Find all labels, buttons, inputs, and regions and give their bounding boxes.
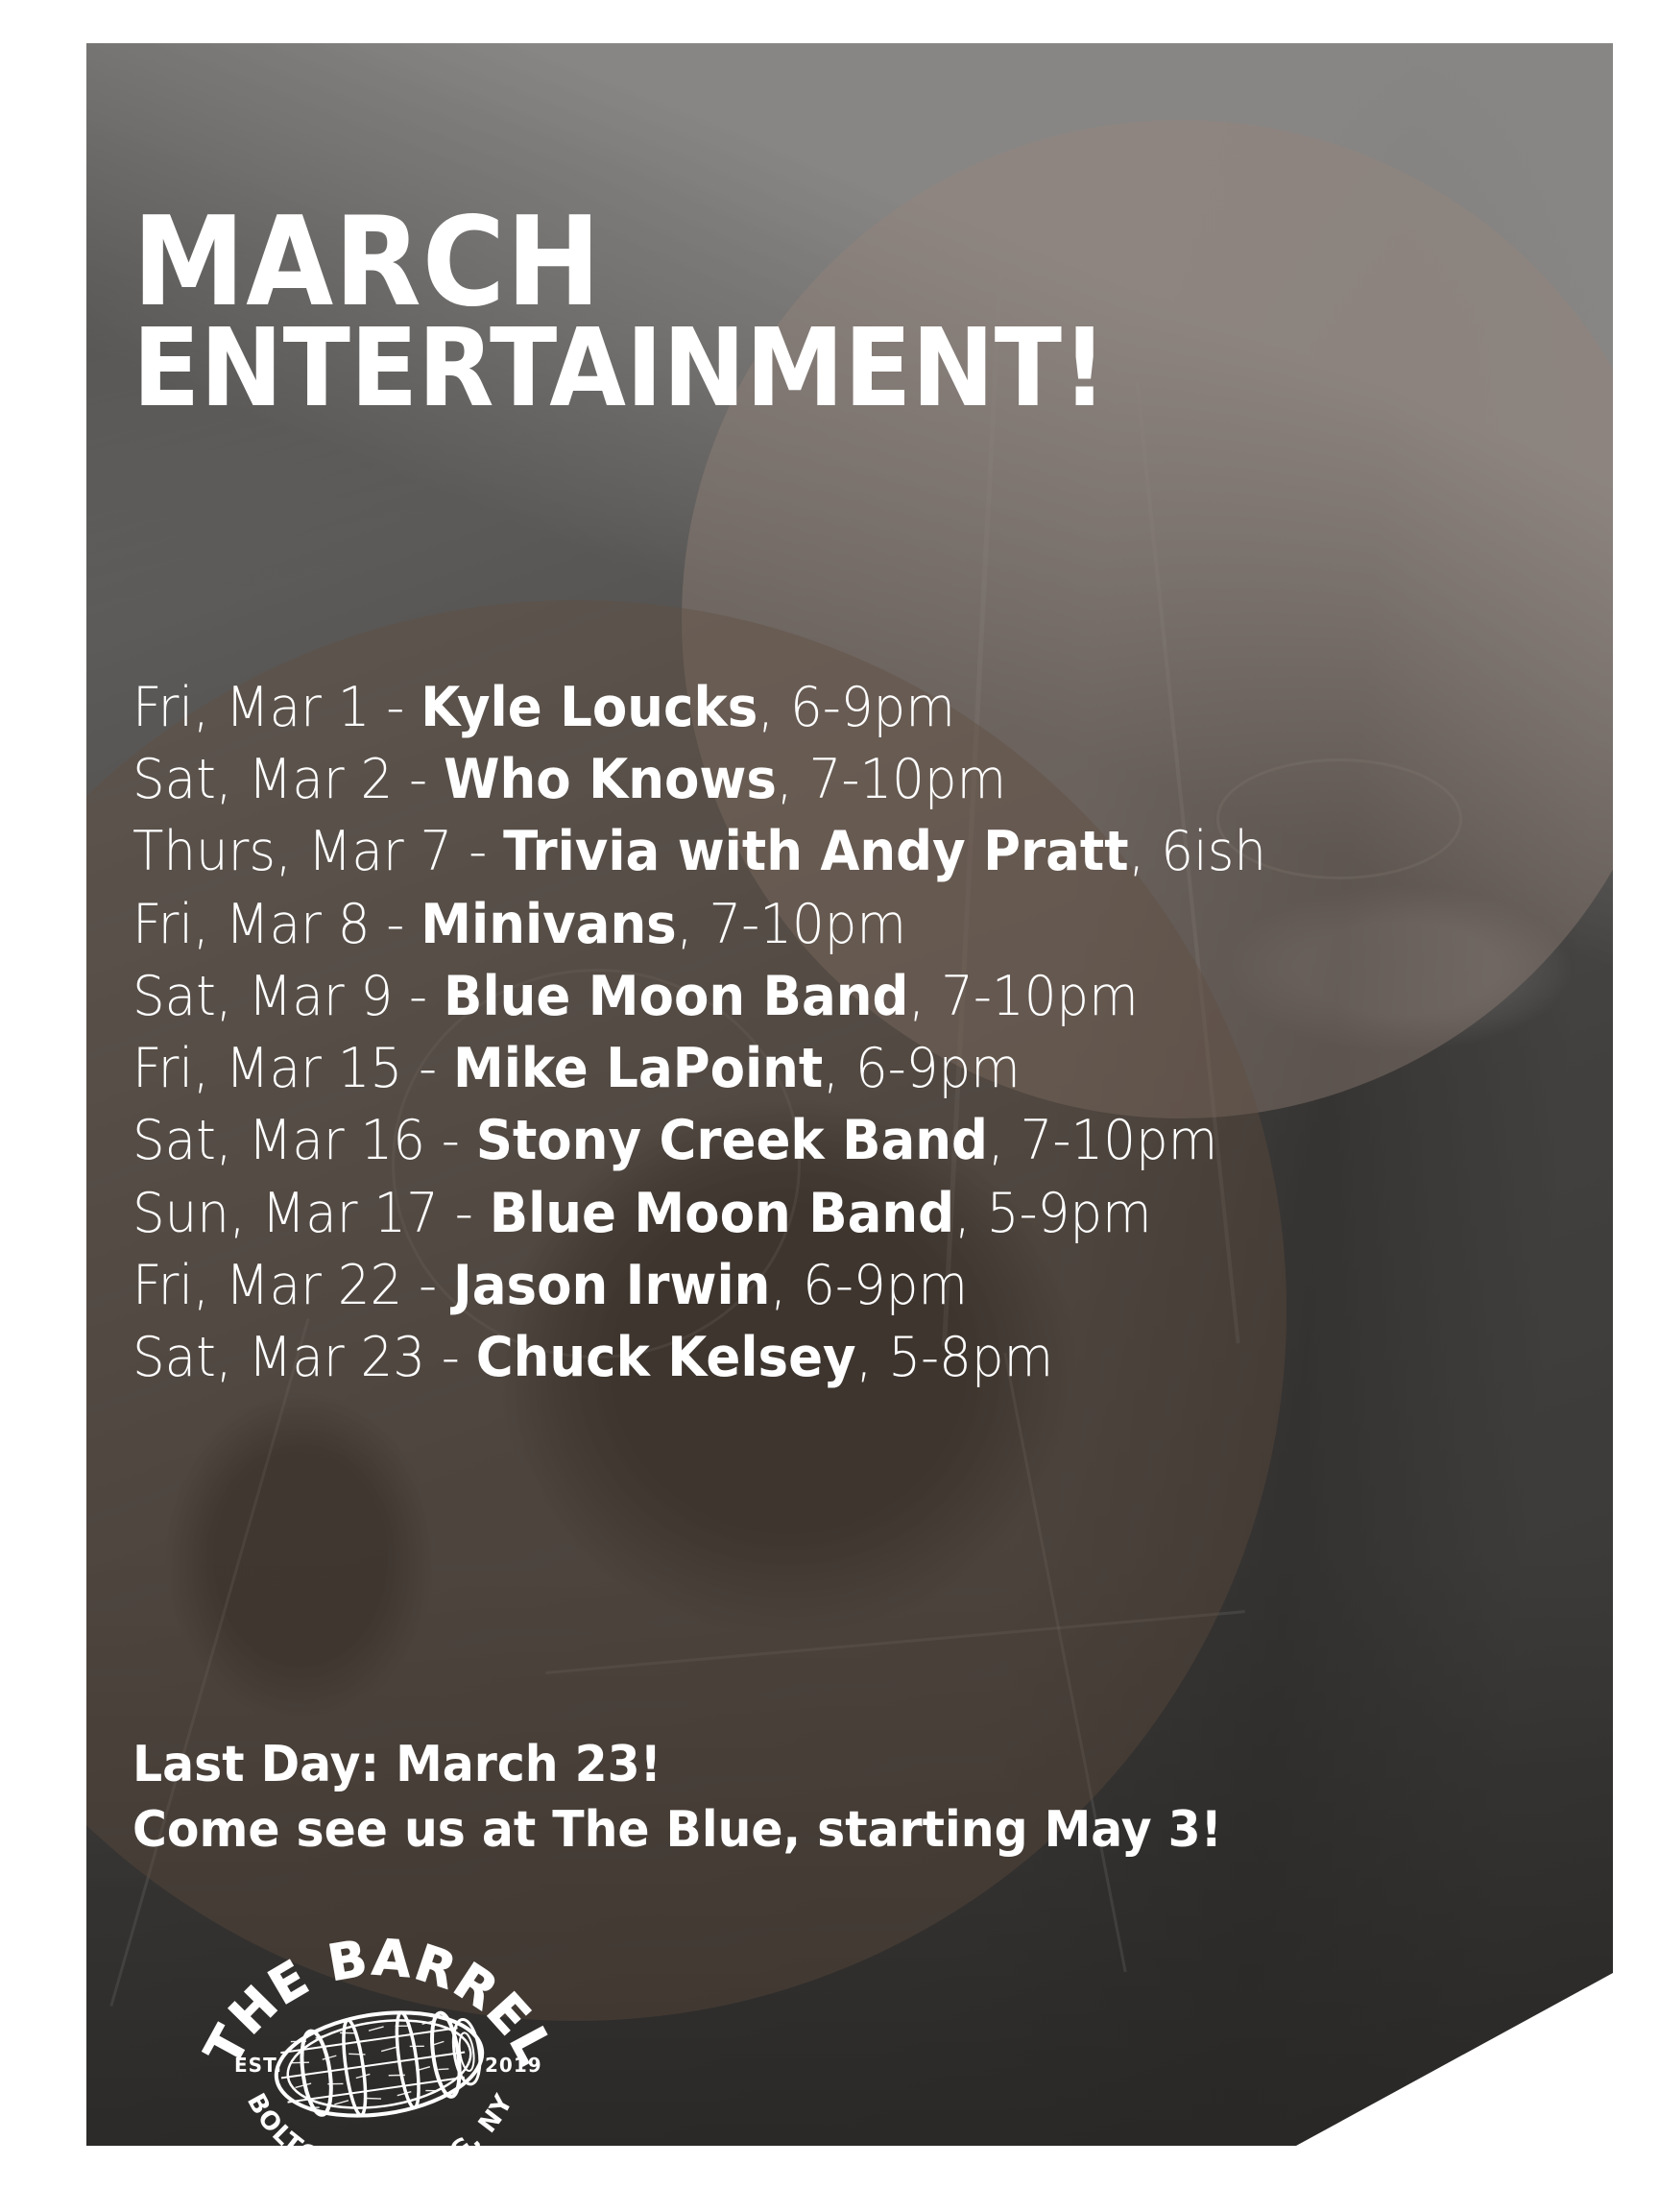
event-date: Thurs, Mar 7 - — [132, 820, 503, 883]
come-see-us-line: Come see us at The Blue, starting May 3! — [132, 1798, 1478, 1863]
poster-content: MARCH ENTERTAINMENT! Fri, Mar 1 - Kyle L… — [86, 43, 1613, 2146]
logo-est-year: 2019 — [485, 2054, 542, 2077]
event-time: , 6-9pm — [823, 1037, 1021, 1100]
event-act: Chuck Kelsey — [476, 1326, 856, 1389]
event-time: , 6ish — [1129, 820, 1266, 883]
event-act: Jason Irwin — [453, 1254, 770, 1317]
event-time: , 6-9pm — [770, 1254, 968, 1317]
list-item: Fri, Mar 1 - Kyle Loucks, 6-9pm — [132, 672, 1463, 744]
logo-est-label: EST. — [234, 2054, 282, 2077]
event-time: , 5-8pm — [856, 1326, 1054, 1389]
list-item: Fri, Mar 8 - Minivans, 7-10pm — [132, 889, 1463, 961]
event-act: Blue Moon Band — [444, 965, 908, 1028]
event-list: Fri, Mar 1 - Kyle Loucks, 6-9pm Sat, Mar… — [132, 672, 1563, 1394]
event-act: Kyle Loucks — [421, 676, 757, 739]
event-time: , 6-9pm — [757, 676, 955, 739]
event-time: , 7-10pm — [908, 965, 1138, 1028]
list-item: Thurs, Mar 7 - Trivia with Andy Pratt, 6… — [132, 816, 1463, 888]
event-time: , 7-10pm — [988, 1109, 1217, 1172]
event-time: , 7-10pm — [677, 893, 906, 956]
event-act: Minivans — [421, 893, 676, 956]
event-date: Fri, Mar 8 - — [132, 893, 421, 956]
event-date: Fri, Mar 1 - — [132, 676, 421, 739]
barrel-illustration — [270, 2000, 489, 2128]
event-act: Who Knows — [444, 748, 777, 811]
event-date: Sat, Mar 9 - — [132, 965, 444, 1028]
list-item: Fri, Mar 15 - Mike LaPoint, 6-9pm — [132, 1033, 1463, 1105]
logo-bottom-text: BOLTON LANDING, NY — [241, 2089, 519, 2146]
list-item: Sat, Mar 23 - Chuck Kelsey, 5-8pm — [132, 1322, 1463, 1394]
poster-page: MARCH ENTERTAINMENT! Fri, Mar 1 - Kyle L… — [0, 0, 1659, 2212]
poster-canvas: MARCH ENTERTAINMENT! Fri, Mar 1 - Kyle L… — [86, 43, 1613, 2146]
title-line-2: ENTERTAINMENT! — [132, 320, 1431, 419]
list-item: Sat, Mar 16 - Stony Creek Band, 7-10pm — [132, 1105, 1463, 1177]
list-item: Sat, Mar 2 - Who Knows, 7-10pm — [132, 744, 1463, 816]
event-date: Sat, Mar 2 - — [132, 748, 444, 811]
event-act: Mike LaPoint — [453, 1037, 823, 1100]
list-item: Sat, Mar 9 - Blue Moon Band, 7-10pm — [132, 961, 1463, 1033]
page-title: MARCH ENTERTAINMENT! — [132, 206, 1431, 419]
event-date: Fri, Mar 22 - — [132, 1254, 453, 1317]
event-act: Trivia with Andy Pratt — [503, 820, 1128, 883]
event-act: Blue Moon Band — [490, 1182, 954, 1245]
closing-message: Last Day: March 23! Come see us at The B… — [132, 1733, 1563, 1863]
the-barrel-logo: THE BARREL — [192, 1920, 566, 2146]
event-date: Sat, Mar 23 - — [132, 1326, 476, 1389]
event-time: , 5-9pm — [954, 1182, 1152, 1245]
list-item: Sun, Mar 17 - Blue Moon Band, 5-9pm — [132, 1178, 1463, 1250]
event-act: Stony Creek Band — [476, 1109, 988, 1172]
event-date: Fri, Mar 15 - — [132, 1037, 453, 1100]
list-item: Fri, Mar 22 - Jason Irwin, 6-9pm — [132, 1250, 1463, 1322]
event-time: , 7-10pm — [777, 748, 1006, 811]
event-date: Sat, Mar 16 - — [132, 1109, 476, 1172]
event-date: Sun, Mar 17 - — [132, 1182, 490, 1245]
last-day-line: Last Day: March 23! — [132, 1733, 1478, 1798]
